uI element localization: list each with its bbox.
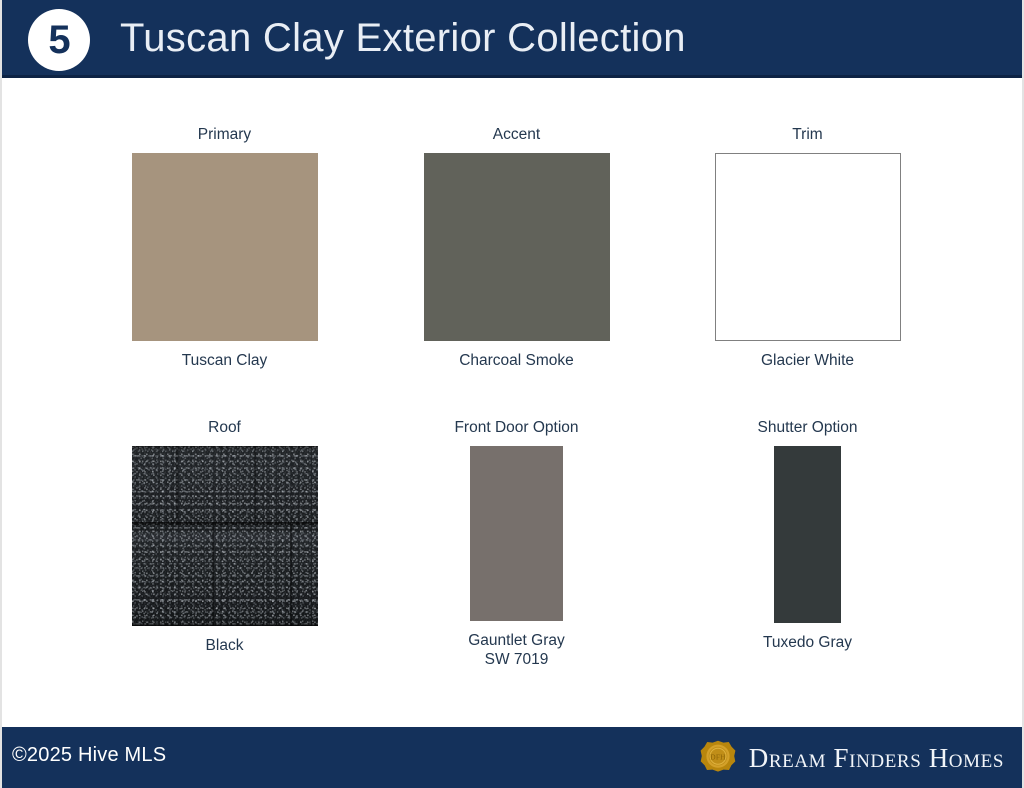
slide-header: 5 Tuscan Clay Exterior Collection: [2, 0, 1024, 78]
swatch-cell-roof[interactable]: Roof Black: [102, 419, 347, 655]
shingle-joint: [254, 446, 256, 522]
swatch-cell-accent[interactable]: Accent Charcoal Smoke: [394, 126, 639, 370]
slide-number-badge: 5: [28, 9, 90, 71]
shingle-joint: [176, 446, 178, 522]
swatch-chip-wrap: [102, 153, 347, 341]
brand-name-text: Dream Finders Homes: [749, 743, 1004, 774]
swatch-caption: Black: [102, 636, 347, 655]
swatch-chip-wrap: [685, 153, 930, 341]
swatch-title: Trim: [685, 126, 930, 144]
color-chip-glacier-white[interactable]: [715, 153, 901, 341]
color-chip-tuxedo-gray[interactable]: [774, 446, 841, 623]
shingle-joint: [290, 525, 292, 626]
wax-seal-icon: DFH: [699, 739, 737, 777]
swatch-chip-wrap: [394, 153, 639, 341]
swatch-board: Primary Tuscan Clay Accent Charcoal Smok…: [2, 78, 1024, 727]
slide-footer: ©2025 Hive MLS DFH Dream Finders Homes: [2, 727, 1024, 788]
swatch-title: Accent: [394, 126, 639, 144]
copyright-text: ©2025 Hive MLS: [12, 744, 166, 767]
swatch-title: Shutter Option: [685, 419, 930, 437]
presentation-slide: 5 Tuscan Clay Exterior Collection Primar…: [0, 0, 1024, 788]
swatch-caption: Charcoal Smoke: [394, 351, 639, 370]
shingle-joint: [212, 525, 214, 626]
swatch-caption: Tuxedo Gray: [685, 633, 930, 652]
swatch-caption: Gauntlet Gray SW 7019: [394, 631, 639, 669]
svg-text:DFH: DFH: [710, 752, 726, 761]
shingle-bottom-edge: [132, 621, 318, 626]
color-chip-charcoal-smoke[interactable]: [424, 153, 610, 341]
color-chip-tuscan-clay[interactable]: [132, 153, 318, 341]
texture-chip-roof-black[interactable]: [132, 446, 318, 626]
swatch-cell-shutter[interactable]: Shutter Option Tuxedo Gray: [685, 419, 930, 652]
swatch-caption: Glacier White: [685, 351, 930, 370]
swatch-chip-wrap: [394, 446, 639, 621]
swatch-cell-primary[interactable]: Primary Tuscan Clay: [102, 126, 347, 370]
page-title: Tuscan Clay Exterior Collection: [120, 16, 686, 61]
brand-logo[interactable]: DFH Dream Finders Homes: [699, 739, 1004, 777]
swatch-chip-wrap: [685, 446, 930, 623]
swatch-chip-wrap: [102, 446, 347, 626]
swatch-title: Front Door Option: [394, 419, 639, 437]
shingle-top-edge: [132, 446, 318, 450]
color-chip-gauntlet-gray[interactable]: [470, 446, 563, 621]
swatch-cell-front-door[interactable]: Front Door Option Gauntlet Gray SW 7019: [394, 419, 639, 669]
swatch-title: Roof: [102, 419, 347, 437]
swatch-title: Primary: [102, 126, 347, 144]
swatch-cell-trim[interactable]: Trim Glacier White: [685, 126, 930, 370]
swatch-caption: Tuscan Clay: [102, 351, 347, 370]
